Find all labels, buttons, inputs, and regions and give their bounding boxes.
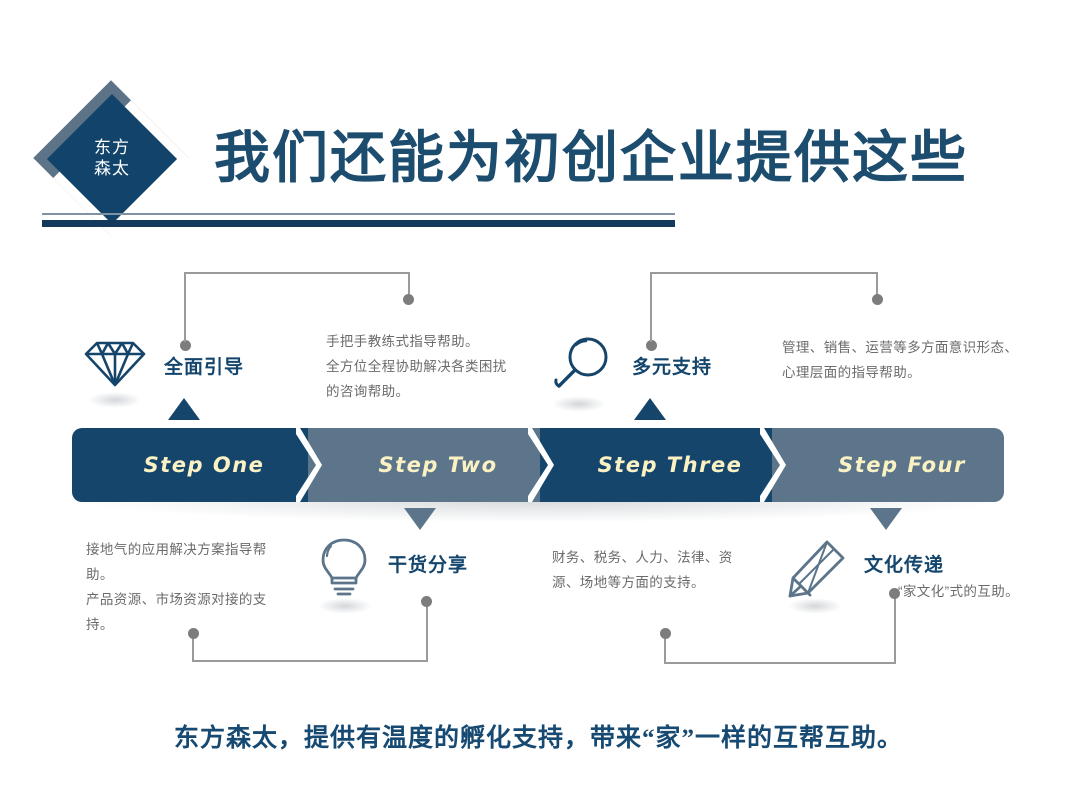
item-title-bottom-left: 干货分享 [388,550,468,577]
connector-top-left-stub [184,306,186,342]
step-label: Step Four [838,453,966,477]
step-label: Step Two [378,453,497,477]
step-item-one[interactable]: Step One [72,428,308,502]
connector-line-vertical-left [650,272,652,306]
connector-top-left [184,272,410,306]
connector-top-right-stub [650,306,652,342]
footer-caption: 东方森太，提供有温度的孵化支持，带来“家”一样的互帮互助。 [0,718,1077,754]
connector-dot [889,588,900,599]
item-body-bottom-left: 接地气的应用解决方案指导帮 助。 产品资源、市场资源对接的支 持。 [86,538,286,638]
connector-top-right [650,272,878,306]
magnifier-icon [552,334,614,396]
icon-shadow [788,598,842,614]
diamond-gem-icon [82,337,148,389]
step-progress-bar: Step One Step Two Step Three Step Four [72,428,1004,502]
connector-dot [188,628,199,639]
step-item-four[interactable]: Step Four [772,428,1004,502]
connector-line-horizontal [184,272,410,274]
step-item-two[interactable]: Step Two [308,428,540,502]
connector-bottom-left-verticals [192,634,428,662]
step-item-three[interactable]: Step Three [540,428,772,502]
connector-line-vertical-left [184,272,186,306]
logo-text-line1: 东方 [94,138,130,159]
item-body-top-right: 管理、销售、运营等多方面意识形态、 心理层面的指导帮助。 [782,336,1020,386]
icon-shadow [88,392,142,408]
step-marker-down-four [870,508,902,530]
item-body-bottom-right-secondary: “家文化”式的互助。 [898,580,1077,605]
item-body-top-left: 手把手教练式指导帮助。 全方位全程协助解决各类困扰 的咨询帮助。 [326,330,526,405]
connector-line-vertical [650,306,652,342]
brand-logo: 东方 森太 [35,86,210,231]
connector-line-vertical [184,306,186,342]
slide-canvas: 东方 森太 我们还能为初创企业提供这些 [0,0,1077,807]
connector-line-horizontal [650,272,878,274]
step-label: Step One [144,453,265,477]
step-marker-down-two [404,508,436,530]
step-marker-up-one [168,398,200,420]
logo-text-line2: 森太 [94,159,130,180]
step-marker-up-three [634,398,666,420]
item-title-bottom-right: 文化传递 [864,550,944,577]
header-rule-thick [42,220,675,227]
header-rule-thin [42,213,675,215]
item-title-top-left: 全面引导 [164,352,244,379]
icon-shadow [318,598,372,614]
lightbulb-icon [318,536,370,600]
icon-shadow [552,396,606,412]
stepbar-shadow [78,500,998,522]
step-label: Step Three [598,453,743,477]
connector-line-vertical-right [894,594,896,664]
connector-dot [403,294,414,305]
connector-line-vertical-right [426,600,428,662]
connector-dot [421,596,432,607]
item-body-bottom-right: 财务、税务、人力、法律、资 源、场地等方面的支持。 [552,546,752,596]
connector-dot [660,628,671,639]
connector-bottom-right-verticals [664,634,896,664]
pencil-icon [786,538,848,600]
page-title: 我们还能为初创企业提供这些 [214,113,968,194]
item-title-top-right: 多元支持 [632,352,712,379]
connector-dot [872,294,883,305]
logo-text: 东方 森太 [66,113,158,205]
